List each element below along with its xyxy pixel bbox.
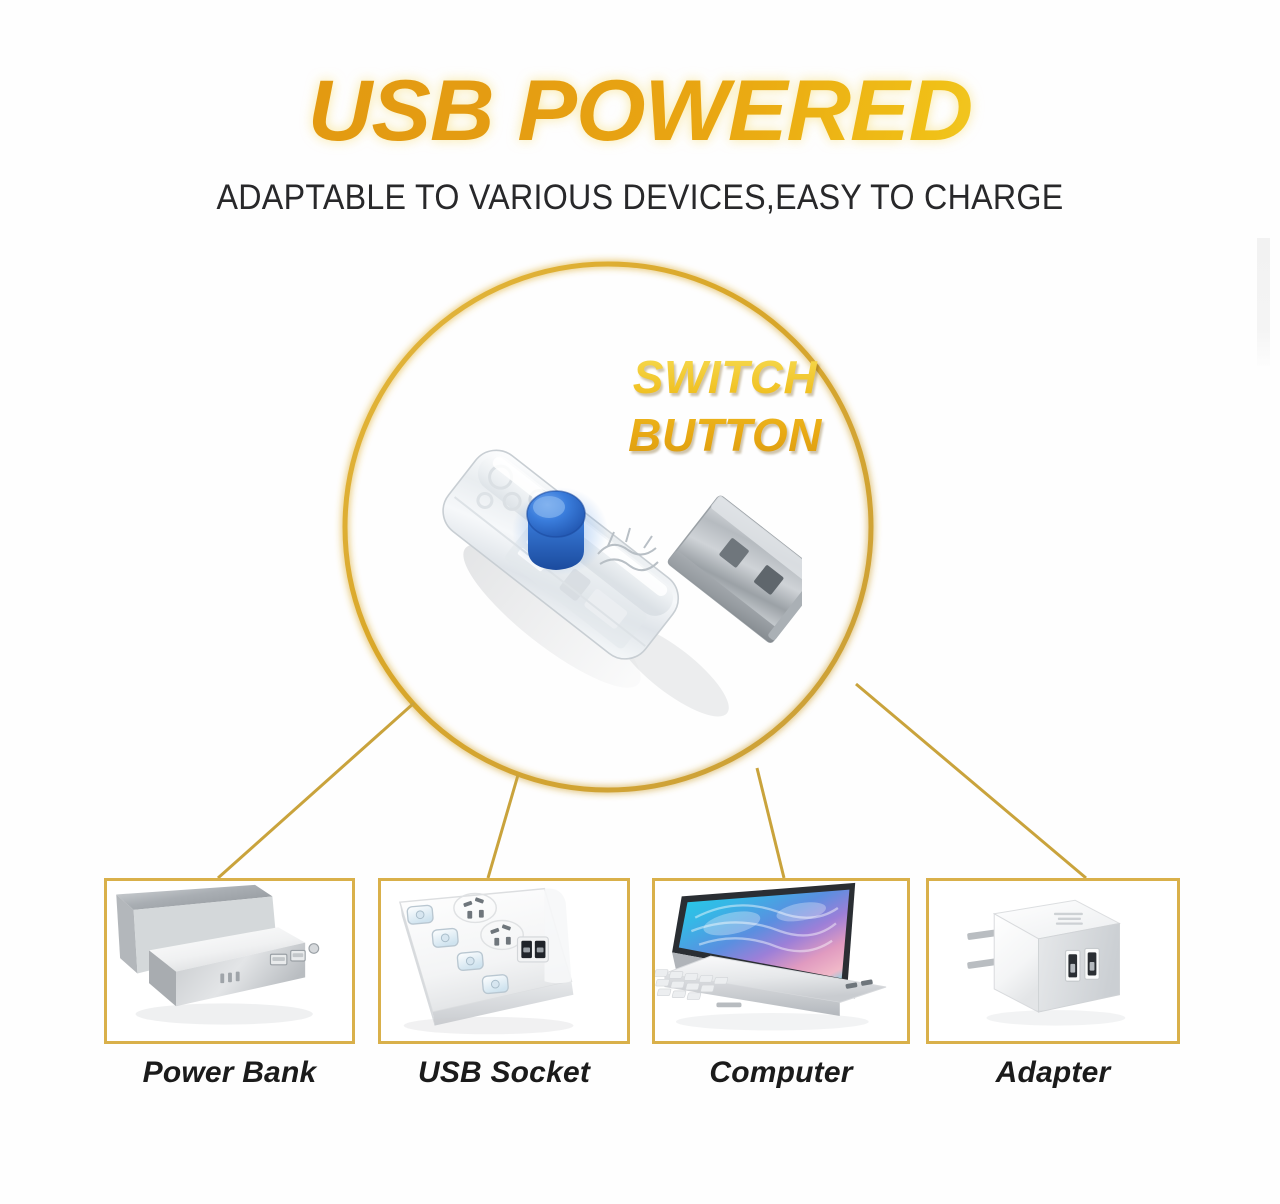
device-box-power-bank[interactable]: [104, 878, 355, 1044]
device-label-computer: Computer: [652, 1056, 910, 1090]
usb-socket-icon: [381, 881, 627, 1041]
device-box-usb-socket[interactable]: [378, 878, 630, 1044]
device-label-usb-socket: USB Socket: [378, 1056, 630, 1090]
device-box-computer[interactable]: [652, 878, 910, 1044]
power-bank-icon: [107, 881, 352, 1041]
laptop-icon: [655, 881, 907, 1041]
product-infographic: USB POWERED ADAPTABLE TO VARIOUS DEVICES…: [0, 0, 1280, 1204]
compatible-devices-row: Power Bank USB Socket Computer Adapter: [0, 0, 1280, 1204]
device-label-adapter: Adapter: [926, 1056, 1180, 1090]
wall-adapter-icon: [929, 881, 1177, 1041]
device-label-power-bank: Power Bank: [104, 1056, 355, 1090]
device-box-adapter[interactable]: [926, 878, 1180, 1044]
